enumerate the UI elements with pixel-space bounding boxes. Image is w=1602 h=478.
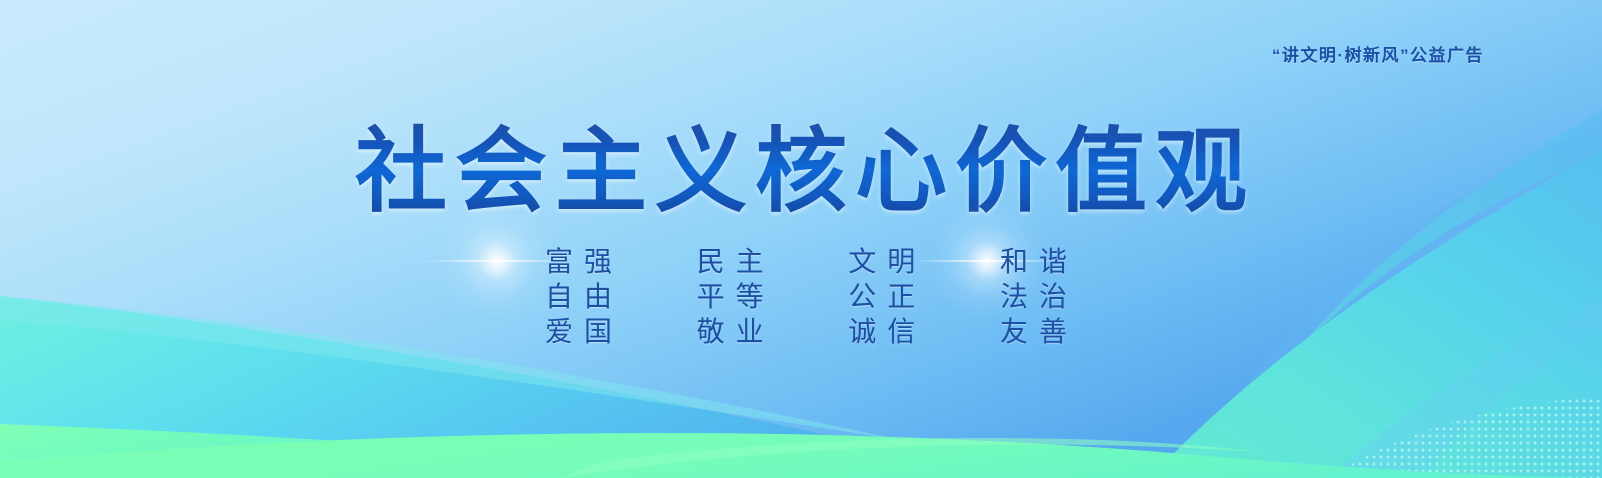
value-word: 文明: [819, 244, 944, 279]
value-word: 富强: [516, 244, 641, 279]
value-word: 平等: [668, 279, 793, 314]
values-row: 爱国 敬业 诚信 友善: [516, 314, 1096, 349]
value-word: 和谐: [971, 244, 1096, 279]
values-row: 富强 民主 文明 和谐: [516, 244, 1096, 279]
core-values-banner: “讲文明·树新风”公益广告 社会主义核心价值观 富强 民主 文明 和谐 自由 平…: [0, 0, 1602, 478]
public-service-tagline: “讲文明·树新风”公益广告: [1272, 41, 1484, 66]
value-word: 爱国: [516, 314, 641, 349]
value-word: 公正: [819, 279, 944, 314]
title-container: 社会主义核心价值观: [0, 118, 1602, 228]
value-word: 敬业: [668, 314, 793, 349]
core-values-list: 富强 民主 文明 和谐 自由 平等 公正 法治 爱国 敬业 诚信 友善: [0, 244, 1602, 349]
value-word: 友善: [971, 314, 1096, 349]
decorative-waves: [0, 0, 1602, 478]
value-word: 自由: [516, 279, 641, 314]
value-word: 法治: [971, 279, 1096, 314]
page-title: 社会主义核心价值观: [347, 118, 1255, 226]
value-word: 诚信: [819, 314, 944, 349]
values-row: 自由 平等 公正 法治: [516, 279, 1096, 314]
value-word: 民主: [668, 244, 793, 279]
